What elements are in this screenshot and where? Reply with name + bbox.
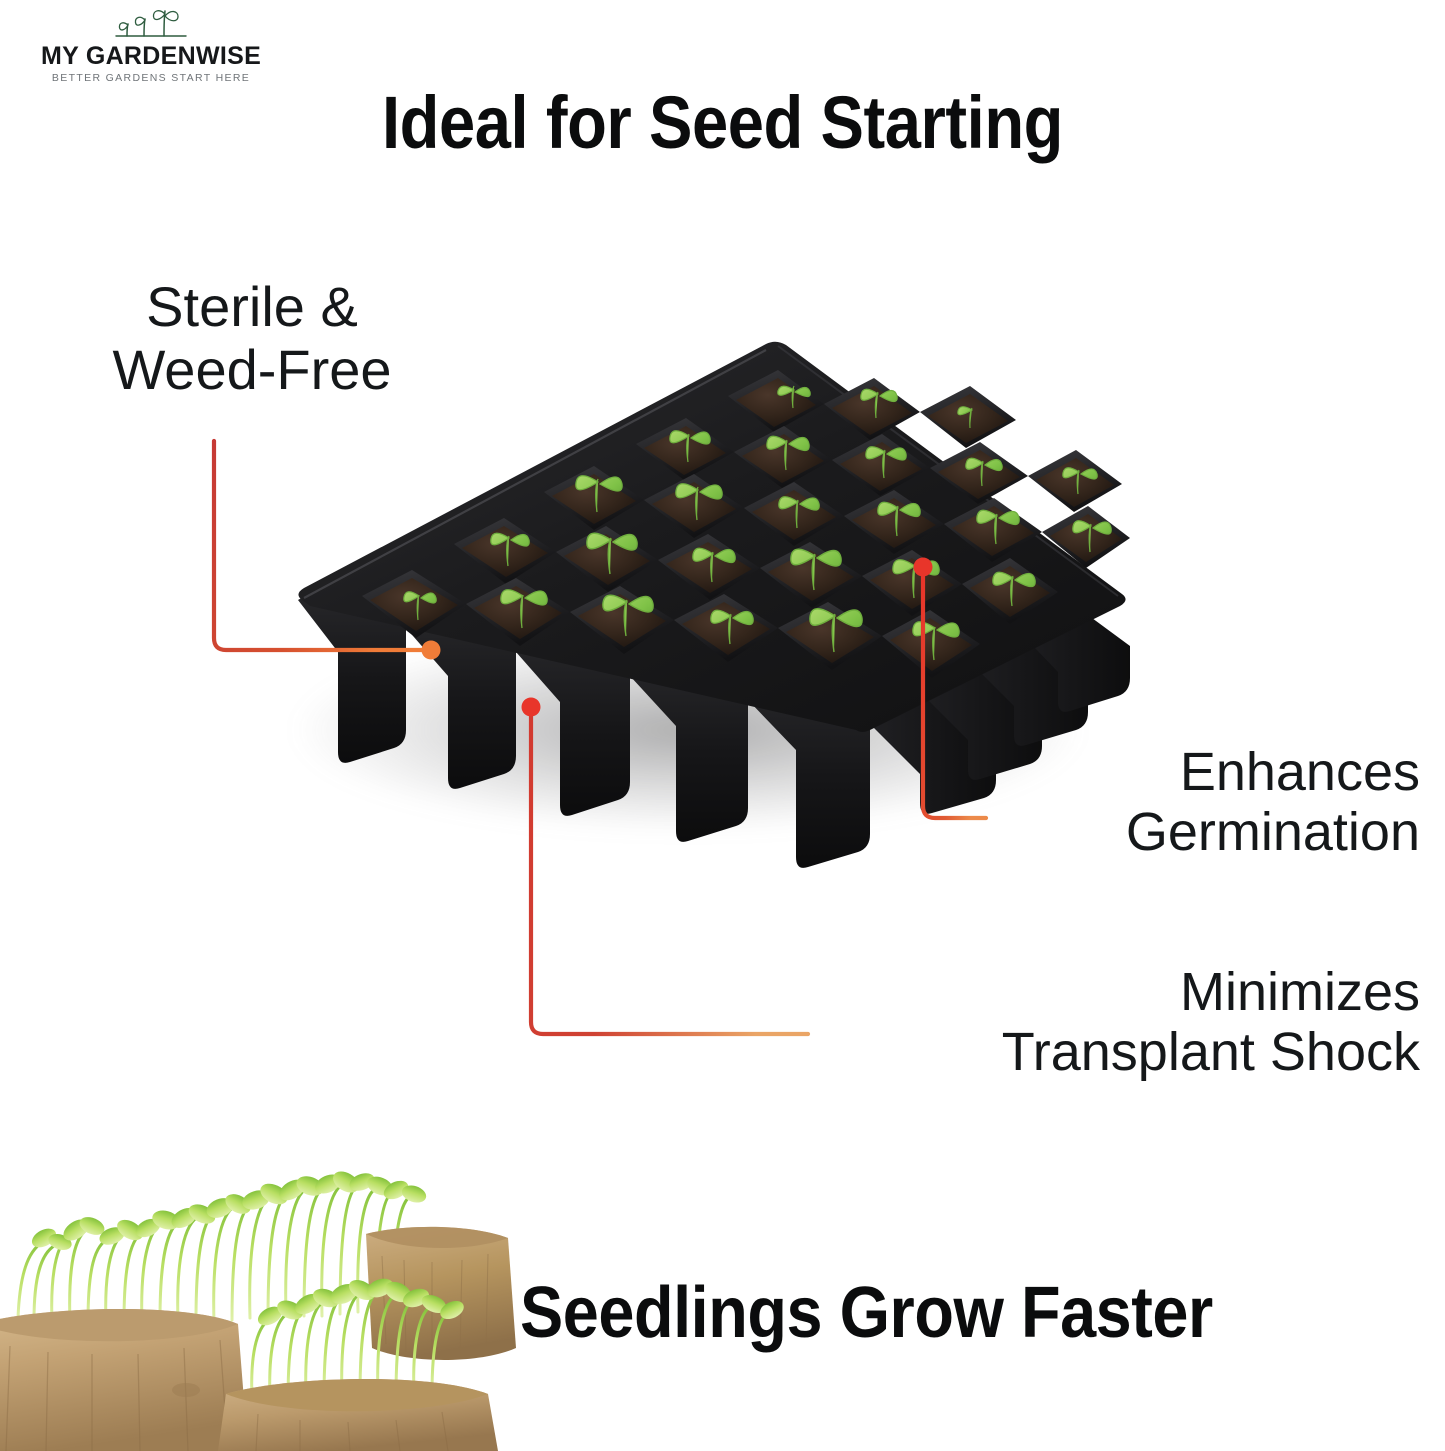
callout-germination-line2: Germination (930, 802, 1420, 862)
callout-sterile-line2: Weed-Free (52, 339, 452, 402)
microgreens-graphic (0, 1098, 540, 1451)
callout-label-transplant: Minimizes Transplant Shock (830, 962, 1420, 1083)
brand-name: MY GARDENWISE (26, 43, 276, 69)
peat-pot-front-left (0, 1309, 248, 1451)
callout-sterile-line1: Sterile & (146, 275, 358, 338)
callout-transplant-line2: Transplant Shock (830, 1022, 1420, 1082)
callout-germination-line1: Enhances (1180, 742, 1420, 802)
callout-transplant-line1: Minimizes (1180, 962, 1420, 1022)
brand-logo: MY GARDENWISE BETTER GARDENS START HERE (26, 4, 276, 84)
callout-label-germination: Enhances Germination (930, 742, 1420, 863)
headline-top: Ideal for Seed Starting (87, 80, 1359, 165)
peat-pot-front-right (218, 1379, 498, 1451)
callout-label-sterile: Sterile & Weed-Free (52, 276, 452, 401)
infographic-page: MY GARDENWISE BETTER GARDENS START HERE … (0, 0, 1445, 1451)
microgreens-photo (0, 1098, 540, 1451)
headline-bottom: Seedlings Grow Faster (520, 1272, 1384, 1354)
three-sprouts-icon (108, 4, 194, 42)
